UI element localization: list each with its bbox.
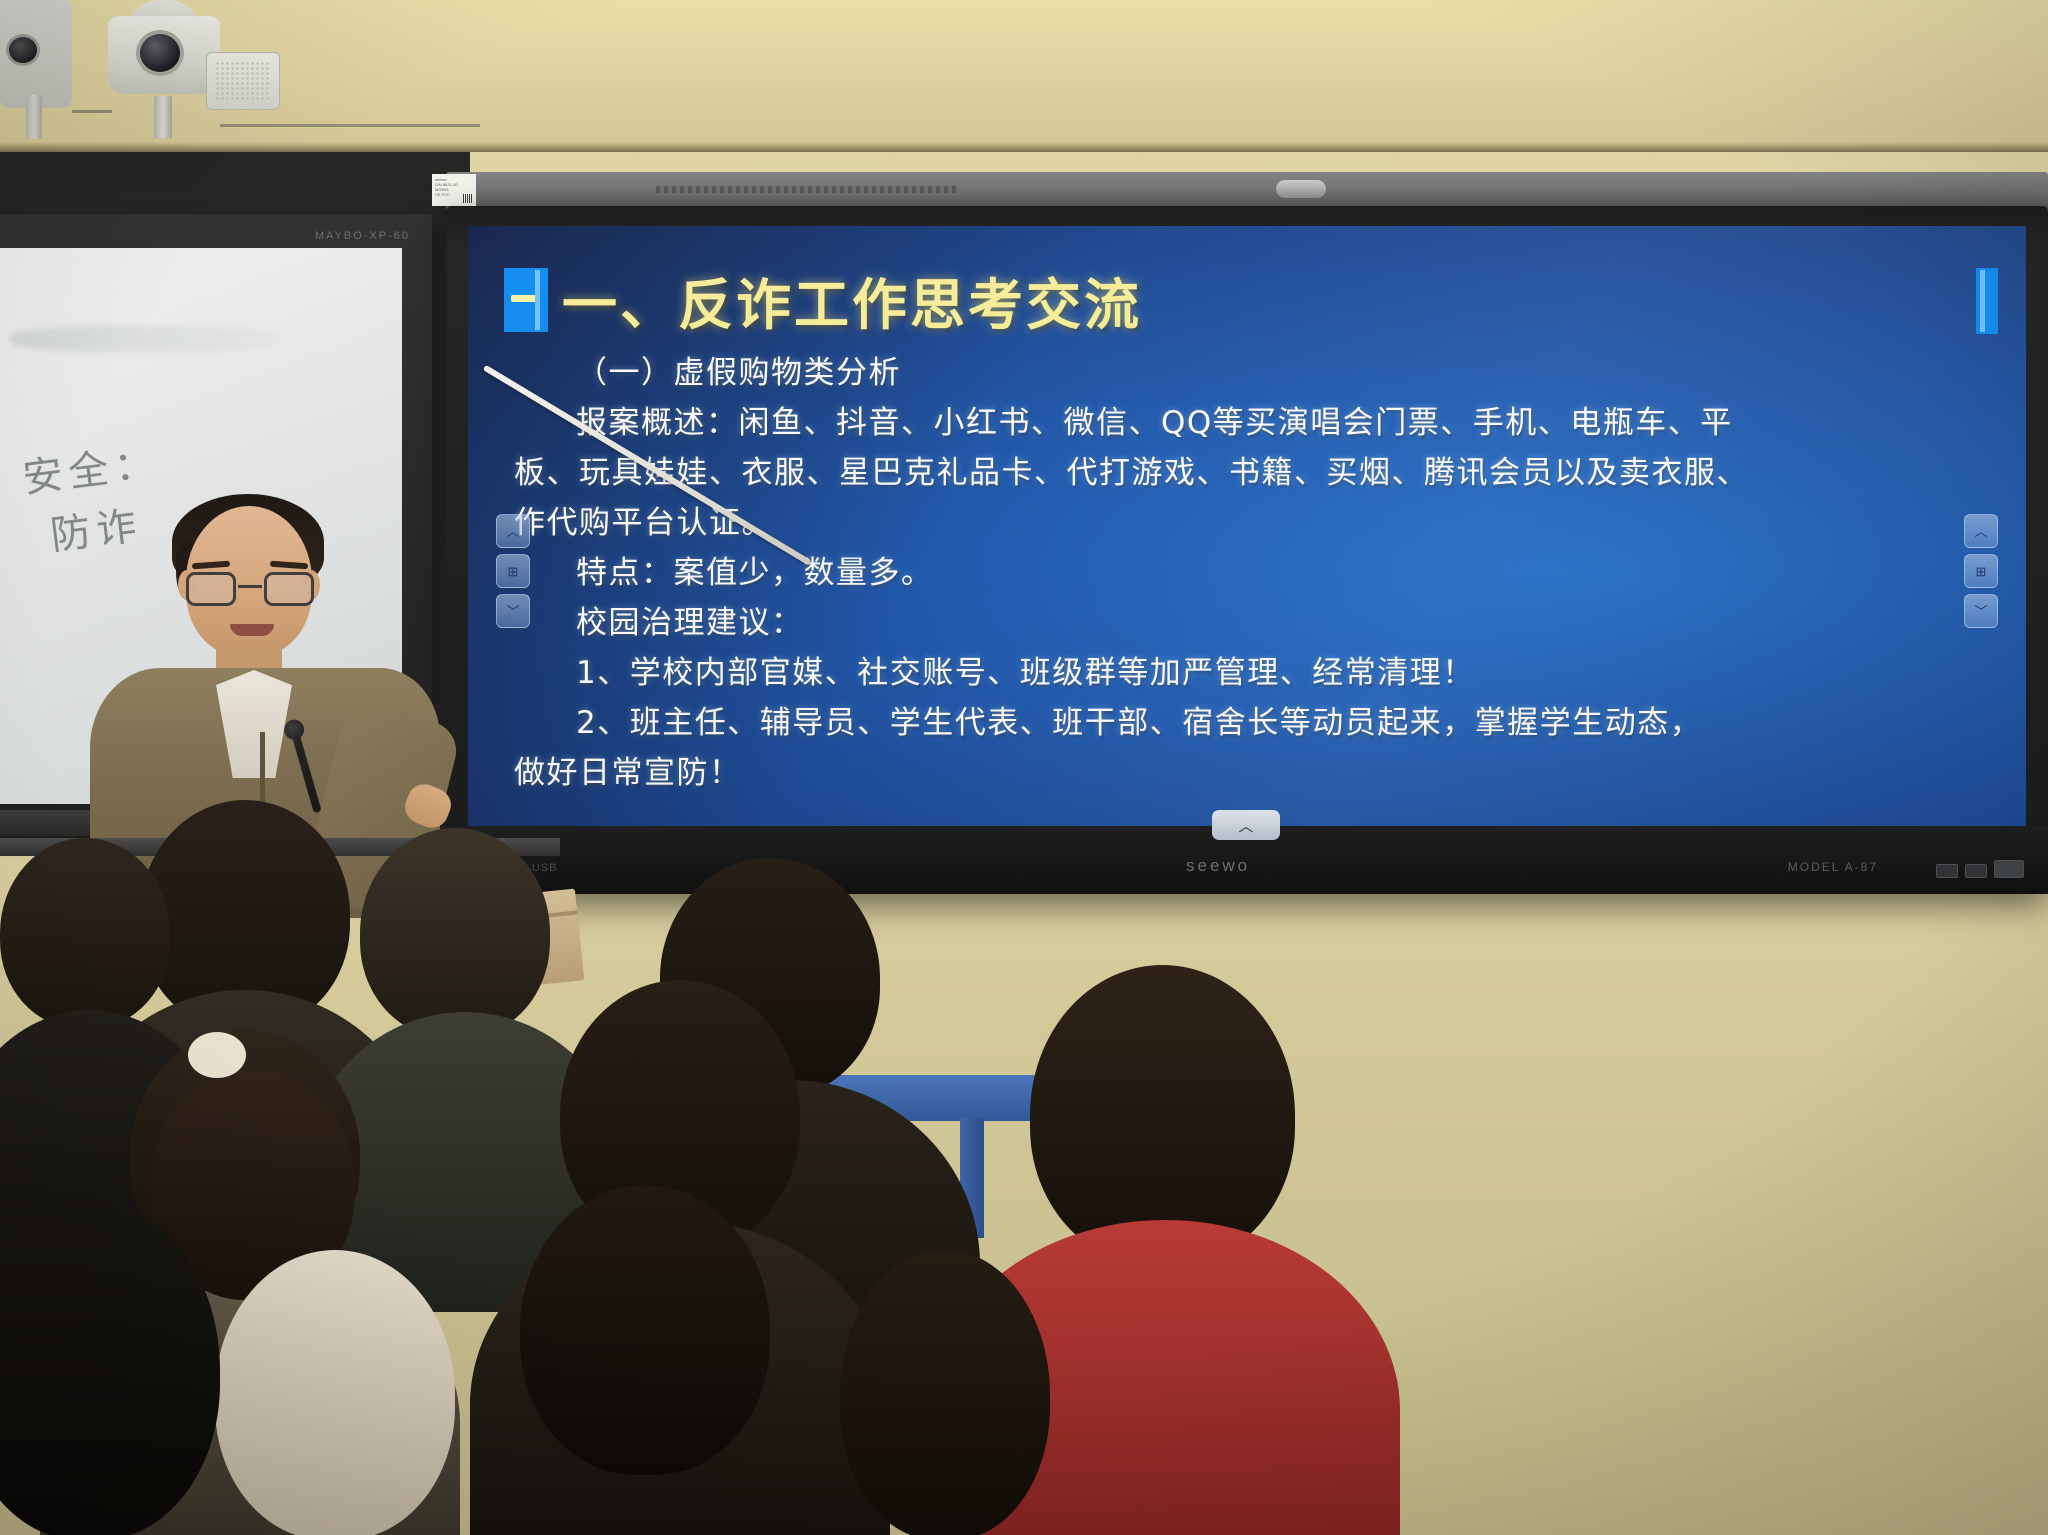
menu-button[interactable]: ⊞ xyxy=(1964,554,1998,588)
slide-line-4: 作代购平台认证。 xyxy=(514,498,1974,548)
whiteboard-model-label: MAYBO-XP-60 xyxy=(315,230,410,242)
slide-title-accent-bar xyxy=(511,295,539,302)
ceiling-speaker-icon xyxy=(206,52,280,110)
glasses-lens-right xyxy=(264,572,314,606)
display-vent xyxy=(656,186,956,193)
slide-title-row: 一、反诈工作思考交流 xyxy=(504,264,1142,336)
slide-line-2: 报案概述：闲鱼、抖音、小红书、微信、QQ等买演唱会门票、手机、电瓶车、平 xyxy=(514,398,1974,448)
slide-line-6: 校园治理建议： xyxy=(514,598,1974,648)
glasses-icon xyxy=(182,572,318,606)
student-head xyxy=(520,1185,770,1475)
display-top-strip xyxy=(446,172,2048,210)
ptz-camera-lens xyxy=(136,30,184,76)
display-spec-sticker: seewo S/N 8821-40 MODEL CE FCC xyxy=(432,174,476,206)
classroom-photo: MAYBO-XP-60 安全： 防诈 seewo S/N 8821-40 MOD… xyxy=(0,0,2048,1535)
slide-title: 一、反诈工作思考交流 xyxy=(562,260,1142,340)
upper-wall xyxy=(0,0,2048,152)
scroll-down-button[interactable]: ﹀ xyxy=(496,594,530,628)
slide-line-7: 1、学校内部官媒、社交账号、班级群等加严管理、经常清理！ xyxy=(514,648,1974,698)
display-handle xyxy=(1276,180,1326,198)
screen-side-buttons-right[interactable]: ︿ ⊞ ﹀ xyxy=(1964,514,1998,628)
cable-segment xyxy=(72,110,112,113)
whiteboard-smudge xyxy=(10,326,280,352)
glasses-lens-left xyxy=(186,572,236,606)
slide-line-8: 2、班主任、辅导员、学生代表、班干部、宿舍长等动员起来，掌握学生动态， xyxy=(514,698,1974,748)
slide-body: （一）虚假购物类分析 报案概述：闲鱼、抖音、小红书、微信、QQ等买演唱会门票、手… xyxy=(514,348,1974,798)
ptz-camera-icon xyxy=(108,0,220,112)
cable-segment xyxy=(220,124,480,127)
hair-tie-icon xyxy=(188,1032,246,1078)
presenter-mouth xyxy=(230,624,274,636)
dome-camera-icon xyxy=(0,0,72,108)
presentation-slide[interactable]: 一、反诈工作思考交流 （一）虚假购物类分析 报案概述：闲鱼、抖音、小红书、微信、… xyxy=(468,226,2026,826)
slide-title-accent-icon xyxy=(504,268,548,332)
audience-row xyxy=(0,780,2048,1535)
scroll-up-button[interactable]: ︿ xyxy=(496,514,530,548)
sticker-qr-icon xyxy=(463,194,472,203)
ptz-camera-mount xyxy=(154,96,172,138)
dome-camera-lens xyxy=(6,34,40,66)
slide-right-accent-icon xyxy=(1976,268,1998,334)
whiteboard-handwriting-line-1: 安全： xyxy=(19,430,163,504)
slide-line-1: （一）虚假购物类分析 xyxy=(514,348,1974,398)
student-head xyxy=(360,828,550,1038)
student-head-light-hood xyxy=(215,1250,455,1535)
menu-button[interactable]: ⊞ xyxy=(496,554,530,588)
student-head xyxy=(0,838,170,1028)
slide-line-3: 板、玩具娃娃、衣服、星巴克礼品卡、代打游戏、书籍、买烟、腾讯会员以及卖衣服、 xyxy=(514,448,1974,498)
scroll-down-button[interactable]: ﹀ xyxy=(1964,594,1998,628)
glasses-bridge xyxy=(238,585,262,588)
scroll-up-button[interactable]: ︿ xyxy=(1964,514,1998,548)
dome-camera-mount xyxy=(26,95,42,139)
slide-line-5: 特点：案值少，数量多。 xyxy=(514,548,1974,598)
screen-side-buttons-left[interactable]: ︿ ⊞ ﹀ xyxy=(496,514,530,628)
speaker-grille xyxy=(215,61,271,101)
student-head xyxy=(840,1250,1050,1535)
